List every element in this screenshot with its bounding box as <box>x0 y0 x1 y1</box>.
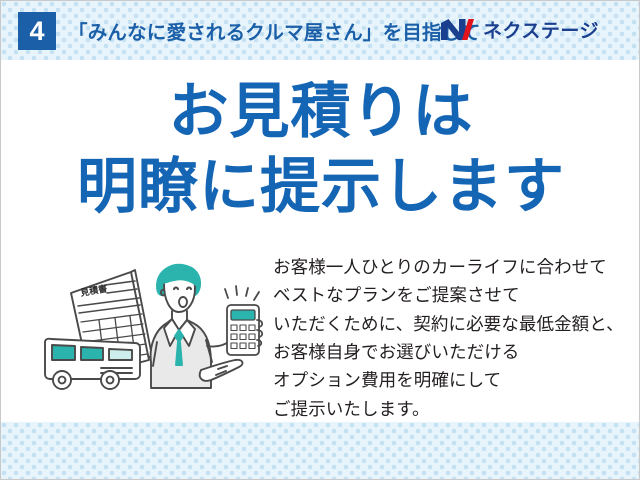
body-line-1: お客様一人ひとりのカーライフに合わせて <box>273 253 633 281</box>
headline: お見積りは 明瞭に提示します <box>1 82 640 217</box>
headline-line-1: お見積りは <box>1 82 640 142</box>
advertisement-banner: 4 「みんなに愛されるクルマ屋さん」を目指して お見積りは 明瞭に提示します <box>0 0 640 480</box>
brand-name: ネクステージ <box>483 16 599 43</box>
brand-logo: ネクステージ <box>440 10 599 48</box>
illustration: 見積書 <box>31 250 276 415</box>
body-line-3: いただくために、契約に必要な最低金額と、 <box>273 310 633 338</box>
sparkle-icon <box>225 286 259 300</box>
nextage-n-logo-icon <box>440 18 474 41</box>
sales-staff-estimate-illustration: 見積書 <box>31 250 276 415</box>
header-title: 「みんなに愛されるクルマ屋さん」を目指して <box>68 16 481 45</box>
body-line-2: ベストなプランをご提案させて <box>273 281 633 309</box>
body-line-4: お客様自身でお選びいただける <box>273 338 633 366</box>
body-copy: お客様一人ひとりのカーライフに合わせて ベストなプランをご提案させて いただくた… <box>273 253 633 423</box>
footer-band <box>1 422 640 479</box>
main-content: お見積りは 明瞭に提示します <box>1 60 640 422</box>
body-line-6: ご提示いたします。 <box>273 395 633 423</box>
headline-line-2: 明瞭に提示します <box>1 157 640 217</box>
body-line-5: オプション費用を明確にして <box>273 366 633 394</box>
step-number-badge: 4 <box>18 12 56 50</box>
